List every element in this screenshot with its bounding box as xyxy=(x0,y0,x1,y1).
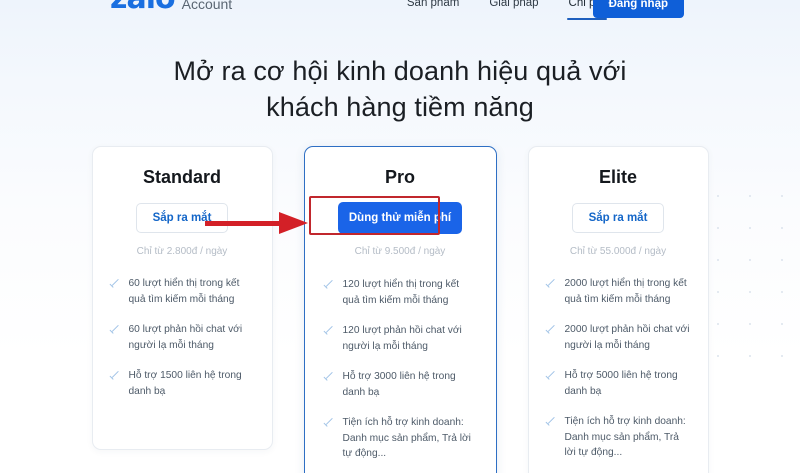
list-item: Hỗ trợ 1500 liên hệ trong danh bạ xyxy=(109,368,256,399)
zalo-logo-icon: zalo xyxy=(110,0,175,14)
list-item: Hỗ trợ 5000 liên hệ trong danh bạ xyxy=(545,368,692,399)
feature-text: 60 lượt phản hồi chat với người lạ mỗi t… xyxy=(129,322,256,353)
list-item: 2000 lượt hiển thị trong kết quả tìm kiế… xyxy=(545,276,692,307)
feature-text: Tiện ích hỗ trợ kinh doanh: Danh mục sản… xyxy=(565,414,692,461)
site-header: zalo Account Sản phẩm Giải pháp Chi phí … xyxy=(0,0,800,26)
plan-title: Standard xyxy=(109,167,256,188)
plan-title: Pro xyxy=(323,167,478,188)
check-icon xyxy=(109,327,120,338)
feature-text: 120 lượt hiển thị trong kết quả tìm kiếm… xyxy=(343,277,478,308)
nav-item-san-pham[interactable]: Sản phẩm xyxy=(407,0,459,17)
plan-feature-list: 60 lượt hiển thị trong kết quả tìm kiếm … xyxy=(109,276,256,399)
page-headline: Mở ra cơ hội kinh doanh hiệu quả với khá… xyxy=(0,54,800,126)
brand-subtitle: Account xyxy=(182,0,233,14)
feature-text: 2000 lượt hiển thị trong kết quả tìm kiế… xyxy=(565,276,692,307)
check-icon xyxy=(323,420,334,431)
login-button[interactable]: Đăng nhập xyxy=(593,0,684,18)
plan-card-pro[interactable]: Pro Dùng thử miễn phí Chỉ từ 9.500đ / ng… xyxy=(304,146,497,476)
check-icon xyxy=(109,281,120,292)
list-item: 120 lượt phản hồi chat với người lạ mỗi … xyxy=(323,323,478,354)
pricing-page: zalo Account Sản phẩm Giải pháp Chi phí … xyxy=(0,0,800,476)
feature-text: Hỗ trợ 1500 liên hệ trong danh bạ xyxy=(129,368,256,399)
plan-feature-list: 120 lượt hiển thị trong kết quả tìm kiếm… xyxy=(323,277,478,462)
list-item: Tiện ích hỗ trợ kinh doanh: Danh mục sản… xyxy=(545,414,692,461)
plan-feature-list: 2000 lượt hiển thị trong kết quả tìm kiế… xyxy=(545,276,692,461)
check-icon xyxy=(545,373,556,384)
list-item: Hỗ trợ 3000 liên hệ trong danh bạ xyxy=(323,369,478,400)
feature-text: 120 lượt phản hồi chat với người lạ mỗi … xyxy=(343,323,478,354)
plan-cta-button[interactable]: Sắp ra mắt xyxy=(572,203,664,233)
list-item: 60 lượt hiển thị trong kết quả tìm kiếm … xyxy=(109,276,256,307)
list-item: Tiện ích hỗ trợ kinh doanh: Danh mục sản… xyxy=(323,415,478,462)
feature-text: Hỗ trợ 5000 liên hệ trong danh bạ xyxy=(565,368,692,399)
headline-line-1: Mở ra cơ hội kinh doanh hiệu quả với xyxy=(0,54,800,90)
list-item: 2000 lượt phản hồi chat với người lạ mỗi… xyxy=(545,322,692,353)
feature-text: 60 lượt hiển thị trong kết quả tìm kiếm … xyxy=(129,276,256,307)
feature-text: Hỗ trợ 3000 liên hệ trong danh bạ xyxy=(343,369,478,400)
check-icon xyxy=(545,419,556,430)
check-icon xyxy=(323,282,334,293)
list-item: 120 lượt hiển thị trong kết quả tìm kiếm… xyxy=(323,277,478,308)
plan-price: Chỉ từ 2.800đ / ngày xyxy=(109,246,256,257)
plan-price: Chỉ từ 9.500đ / ngày xyxy=(323,246,478,257)
check-icon xyxy=(323,374,334,385)
plan-cta-button[interactable]: Sắp ra mắt xyxy=(136,203,228,233)
pricing-cards: Standard Sắp ra mắt Chỉ từ 2.800đ / ngày… xyxy=(0,146,800,476)
feature-text: Tiện ích hỗ trợ kinh doanh: Danh mục sản… xyxy=(343,415,478,462)
list-item: 60 lượt phản hồi chat với người lạ mỗi t… xyxy=(109,322,256,353)
check-icon xyxy=(545,281,556,292)
check-icon xyxy=(323,328,334,339)
plan-card-standard[interactable]: Standard Sắp ra mắt Chỉ từ 2.800đ / ngày… xyxy=(92,146,273,450)
feature-text: 2000 lượt phản hồi chat với người lạ mỗi… xyxy=(565,322,692,353)
nav-item-giai-phap[interactable]: Giải pháp xyxy=(489,0,538,17)
brand-logo-group[interactable]: zalo Account xyxy=(110,0,232,14)
plan-price: Chỉ từ 55.000đ / ngày xyxy=(545,246,692,257)
plan-card-elite[interactable]: Elite Sắp ra mắt Chỉ từ 55.000đ / ngày 2… xyxy=(528,146,709,476)
plan-title: Elite xyxy=(545,167,692,188)
check-icon xyxy=(545,327,556,338)
headline-line-2: khách hàng tiềm năng xyxy=(0,90,800,126)
check-icon xyxy=(109,373,120,384)
plan-cta-button[interactable]: Dùng thử miễn phí xyxy=(338,202,462,234)
